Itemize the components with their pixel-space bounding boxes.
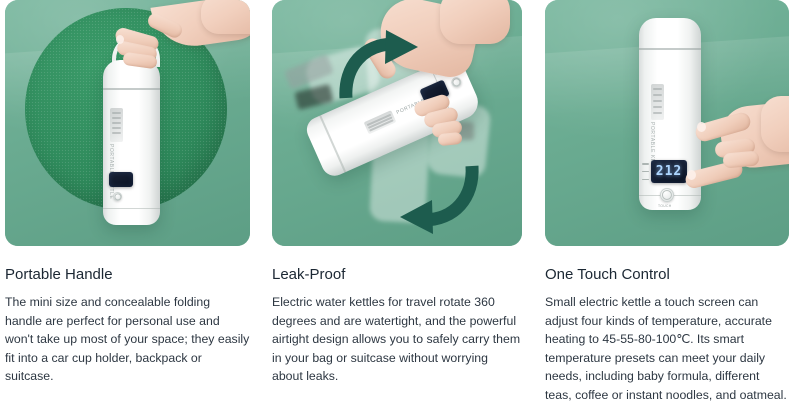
feature-column-portable-handle: PORTABLE KETTLE Portable Handle The mini…	[5, 0, 250, 400]
kettle-touch-button[interactable]	[660, 188, 674, 202]
kettle-display	[109, 172, 133, 187]
fingernail-index	[687, 170, 696, 180]
hand-wrist	[761, 96, 789, 152]
hand-wrist	[440, 0, 510, 44]
fingernail	[116, 35, 124, 44]
rotation-arrow-down-icon	[394, 160, 480, 234]
feature-heading-one-touch-control: One Touch Control	[545, 266, 789, 284]
kettle-base-seam	[103, 208, 160, 210]
feature-image-portable-handle: PORTABLE KETTLE	[5, 0, 250, 246]
kettle-preset-ticks	[642, 163, 649, 180]
fingernail-middle	[697, 122, 706, 132]
feature-body-leak-proof: Electric water kettles for travel rotate…	[272, 293, 522, 386]
hand-wrist	[201, 0, 250, 34]
touch-button-ring	[114, 193, 121, 200]
kettle-touch-button[interactable]	[450, 76, 463, 89]
feature-image-one-touch-control: PORTABLE KETTLE 212 TOUCH	[545, 0, 789, 246]
touch-button-ring	[662, 190, 672, 200]
kettle-lid-seam	[639, 48, 701, 50]
kettle-logo-strip	[364, 110, 397, 134]
feature-body-portable-handle: The mini size and concealable folding ha…	[5, 293, 250, 386]
feature-body-one-touch-control: Small electric kettle a touch screen can…	[545, 293, 789, 404]
feature-panel-grid: PORTABLE KETTLE Portable Handle The mini…	[0, 0, 794, 400]
touch-button-ring	[451, 77, 461, 87]
kettle-body: PORTABLE KETTLE	[103, 60, 160, 225]
feature-column-one-touch-control: PORTABLE KETTLE 212 TOUCH	[545, 0, 789, 400]
kettle-logo-strip	[110, 108, 123, 142]
kettle-logo-strip	[651, 84, 664, 120]
feature-image-leak-proof: PORTABLE KETTLE	[272, 0, 522, 246]
kettle-touch-button[interactable]	[113, 192, 122, 201]
feature-heading-leak-proof: Leak-Proof	[272, 266, 522, 284]
kettle-lid-seam	[103, 88, 160, 90]
feature-heading-portable-handle: Portable Handle	[5, 266, 250, 284]
touch-button-label: TOUCH	[658, 204, 672, 208]
feature-column-leak-proof: PORTABLE KETTLE	[272, 0, 522, 400]
kettle-base-seam	[319, 115, 346, 172]
rotation-arrow-up-icon	[338, 30, 422, 104]
kettle-display[interactable]: 212	[651, 160, 687, 183]
display-value: 212	[656, 164, 682, 179]
